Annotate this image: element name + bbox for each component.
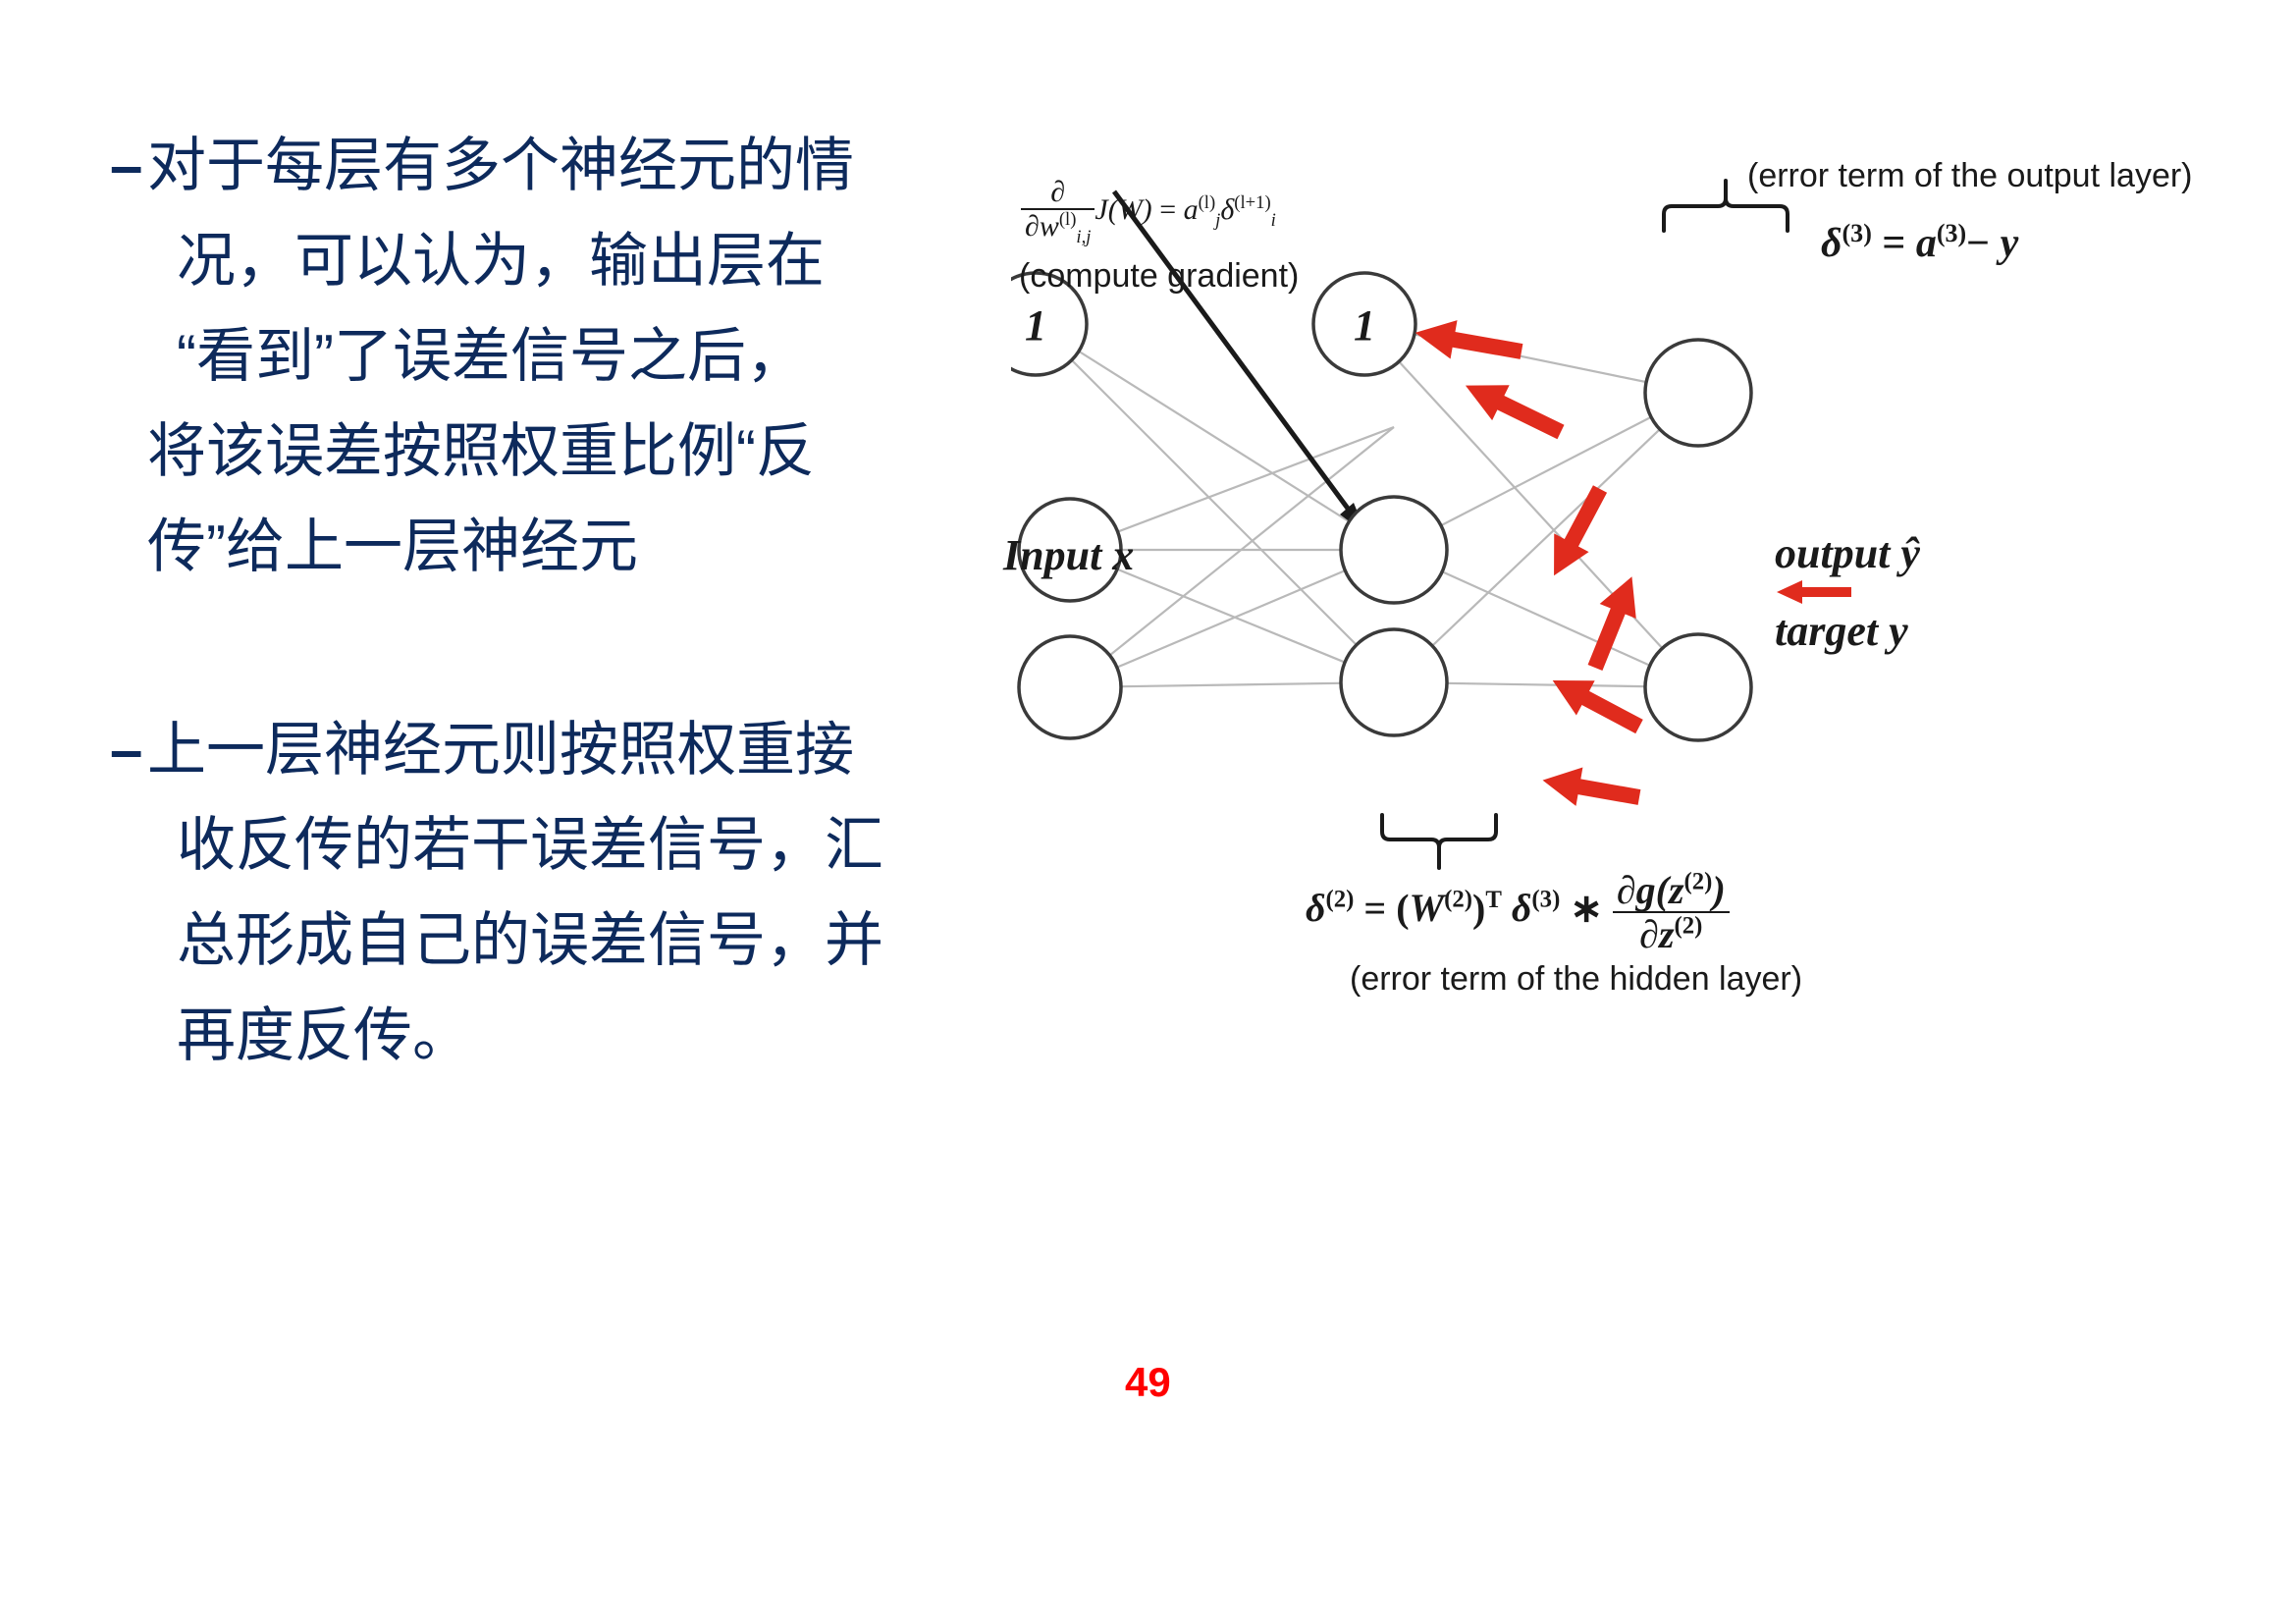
bullet-2-line-4: 再度反传。 — [147, 988, 756, 1083]
delta2-lhs: δ(2) — [1306, 886, 1354, 930]
input-bias-label: 1 — [1025, 301, 1046, 350]
output-layer-caption: (error term of the output layer) — [1747, 157, 2193, 195]
output-node-2 — [1645, 634, 1751, 740]
delta3-equals: = — [1882, 221, 1905, 266]
target-y-symbol: y — [1889, 607, 1908, 655]
bullet-1-line-2: 况，可以认为，输出层在 — [147, 213, 756, 308]
delta3-formula: δ(3) = a(3)− y — [1821, 219, 2018, 267]
target-to-output-arrow-icon — [1775, 578, 1851, 606]
hidden-layer-nodes — [1313, 273, 1447, 735]
page-number: 49 — [1125, 1359, 1171, 1406]
delta2-delta3: δ(3) — [1512, 886, 1560, 930]
delta3-lhs: δ(3) — [1821, 221, 1872, 266]
bullet-1-line-3: “看到”了误差信号之后， — [147, 308, 756, 404]
bullet-text-column: – 对于每层有多个神经元的情 况，可以认为，输出层在 “看到”了误差信号之后， … — [147, 118, 756, 1083]
delta2-frac-numerator: ∂g(z(2)) — [1613, 869, 1730, 911]
hidden-node-2 — [1341, 629, 1447, 735]
gradient-fraction: ∂ ∂w(l)i,j — [1021, 177, 1095, 247]
gradient-formula: ∂ ∂w(l)i,j J(W) = a(l)jδ(l+1)i — [1021, 177, 1276, 247]
delta2-fraction: ∂g(z(2)) ∂z(2) — [1613, 869, 1730, 955]
delta3-minus: − — [1966, 221, 1990, 266]
delta3-rhs-a: a(3) — [1916, 221, 1966, 266]
input-node-2 — [1019, 636, 1121, 738]
bullet-paragraph-2: – 上一层神经元则按照权重接 收反传的若干误差信号，汇 总形成自己的误差信号，并… — [147, 702, 756, 1083]
backprop-arrow-1 — [1412, 313, 1524, 370]
delta2-equals: = — [1363, 886, 1386, 930]
backprop-arrow-6 — [1539, 761, 1642, 817]
bullet-marker-1: – — [110, 118, 142, 213]
delta2-frac-denominator: ∂z(2) — [1613, 911, 1730, 955]
delta2-formula: δ(2) = (W(2))T δ(3) ∗ ∂g(z(2)) ∂z(2) — [1306, 869, 1730, 955]
delta2-w: W(2) — [1410, 886, 1473, 930]
bullet-1-line-4: 将该误差按照权重比例“反 — [147, 404, 756, 499]
output-yhat-symbol: ŷ — [1900, 529, 1920, 577]
gradient-numerator: ∂ — [1021, 177, 1095, 208]
backpropagation-diagram: 1 1 — [1011, 137, 2248, 1041]
delta2-transpose: T — [1485, 887, 1502, 913]
delta2-star: ∗ — [1570, 886, 1603, 930]
output-target-label: output ŷ target y — [1775, 528, 1920, 656]
output-word: output — [1775, 529, 1890, 577]
delta2-open-paren: ( — [1396, 886, 1409, 930]
hidden-node-1 — [1341, 497, 1447, 603]
input-x-label: Input x — [1003, 530, 1134, 580]
gradient-function: J(W) — [1095, 193, 1151, 226]
hidden-layer-caption: (error term of the hidden layer) — [1350, 960, 1802, 999]
output-layer-nodes — [1645, 340, 1751, 740]
gradient-rhs-a: a(l)j — [1184, 193, 1221, 226]
hidden-layer-brace — [1382, 815, 1496, 868]
delta3-rhs-y: y — [2001, 221, 2019, 266]
bullet-paragraph-1: – 对于每层有多个神经元的情 况，可以认为，输出层在 “看到”了误差信号之后， … — [147, 118, 756, 594]
backprop-arrows — [1412, 313, 1650, 816]
bullet-marker-2: – — [110, 702, 142, 797]
target-word: target — [1775, 607, 1878, 655]
output-node-1 — [1645, 340, 1751, 446]
gradient-denominator: ∂w(l)i,j — [1021, 208, 1095, 247]
hidden-bias-label: 1 — [1354, 301, 1375, 350]
bullet-1-line-1: 对于每层有多个神经元的情 — [147, 118, 756, 213]
bullet-2-line-2: 收反传的若干误差信号，汇 — [147, 797, 756, 893]
backprop-arrow-2 — [1457, 368, 1570, 450]
bullet-2-line-1: 上一层神经元则按照权重接 — [147, 702, 756, 797]
bullet-1-line-5: 传”给上一层神经元 — [147, 499, 756, 594]
gradient-caption: (compute gradient) — [1019, 257, 1299, 296]
backprop-arrow-5 — [1543, 663, 1648, 743]
bullet-2-line-3: 总形成自己的误差信号，并 — [147, 893, 756, 988]
backprop-arrow-3 — [1536, 480, 1617, 585]
gradient-rhs-delta: δ(l+1)i — [1220, 193, 1275, 226]
gradient-equals: = — [1159, 193, 1176, 226]
slide-canvas: – 对于每层有多个神经元的情 况，可以认为，输出层在 “看到”了误差信号之后， … — [0, 0, 2296, 1624]
delta2-close-paren: ) — [1472, 886, 1485, 930]
